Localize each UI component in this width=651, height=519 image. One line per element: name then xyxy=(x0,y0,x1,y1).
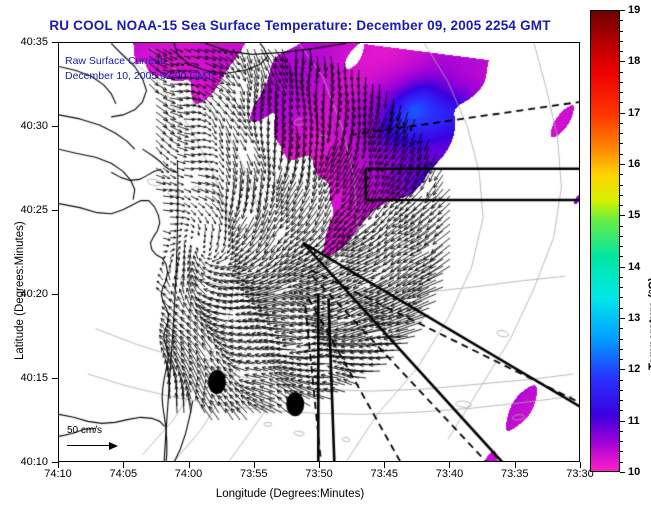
colorbar-tick xyxy=(620,10,625,11)
temperature-colorbar[interactable] xyxy=(590,10,620,472)
colorbar-minor-tick xyxy=(620,339,623,340)
y-axis-tick-label: 40:30 xyxy=(0,120,48,132)
colorbar-minor-tick xyxy=(620,143,623,144)
x-axis-tick-label: 74:00 xyxy=(175,468,203,480)
colorbar-minor-tick xyxy=(620,287,623,288)
colorbar-minor-tick xyxy=(620,133,623,134)
colorbar-tick-label: 11 xyxy=(628,415,640,427)
colorbar-minor-tick xyxy=(620,400,623,401)
y-axis-tick xyxy=(52,126,58,127)
colorbar-minor-tick xyxy=(620,174,623,175)
y-axis-tick-label: 40:10 xyxy=(0,456,48,468)
y-axis-tick-label: 40:25 xyxy=(0,204,48,216)
map-plot-area[interactable]: Raw Surface Current: December 10, 2005 0… xyxy=(58,42,580,462)
colorbar-minor-tick xyxy=(620,328,623,329)
y-axis-title: Latitude (Degrees:Minutes) xyxy=(14,221,26,360)
sst-current-map-canvas[interactable] xyxy=(59,43,580,462)
colorbar-minor-tick xyxy=(620,226,623,227)
velocity-scale-key: 50 cm/s xyxy=(67,425,123,452)
x-axis-tick-label: 73:50 xyxy=(305,468,333,480)
colorbar-minor-tick xyxy=(620,410,623,411)
x-axis-tick-label: 73:55 xyxy=(240,468,268,480)
colorbar-minor-tick xyxy=(620,185,623,186)
colorbar-minor-tick xyxy=(620,92,623,93)
colorbar-minor-tick xyxy=(620,205,623,206)
x-axis-tick-label: 74:10 xyxy=(44,468,72,480)
colorbar-minor-tick xyxy=(620,431,623,432)
colorbar-tick-label: 12 xyxy=(628,363,640,375)
colorbar-gradient xyxy=(591,11,619,471)
colorbar-tick xyxy=(620,267,625,268)
colorbar-minor-tick xyxy=(620,308,623,309)
colorbar-tick-label: 19 xyxy=(628,4,640,16)
colorbar-minor-tick xyxy=(620,51,623,52)
map-canvas-wrapper xyxy=(59,43,579,461)
x-axis-tick-label: 74:05 xyxy=(110,468,138,480)
page-title: RU COOL NOAA-15 Sea Surface Temperature:… xyxy=(0,18,600,33)
colorbar-tick-label: 16 xyxy=(628,158,640,170)
colorbar-tick xyxy=(620,164,625,165)
colorbar-minor-tick xyxy=(620,451,623,452)
subtitle-line-2: December 10, 2005 02:00 GMT xyxy=(65,70,213,82)
colorbar-minor-tick xyxy=(620,349,623,350)
colorbar-minor-tick xyxy=(620,390,623,391)
colorbar-minor-tick xyxy=(620,82,623,83)
y-axis-tick xyxy=(52,210,58,211)
colorbar-tick-label: 18 xyxy=(628,55,640,67)
colorbar-minor-tick xyxy=(620,277,623,278)
y-axis-tick xyxy=(52,294,58,295)
x-axis-tick-label: 73:35 xyxy=(501,468,529,480)
colorbar-minor-tick xyxy=(620,256,623,257)
colorbar-tick xyxy=(620,421,625,422)
colorbar-tick-label: 14 xyxy=(628,261,640,273)
colorbar-tick xyxy=(620,472,625,473)
colorbar-tick xyxy=(620,369,625,370)
colorbar-minor-tick xyxy=(620,236,623,237)
x-axis-tick-label: 73:45 xyxy=(370,468,398,480)
colorbar-minor-tick xyxy=(620,102,623,103)
colorbar-minor-tick xyxy=(620,154,623,155)
colorbar-minor-tick xyxy=(620,123,623,124)
colorbar-minor-tick xyxy=(620,246,623,247)
colorbar-tick xyxy=(620,61,625,62)
scale-key-label: 50 cm/s xyxy=(67,425,123,436)
colorbar-minor-tick xyxy=(620,41,623,42)
y-axis-tick xyxy=(52,42,58,43)
colorbar-minor-tick xyxy=(620,72,623,73)
colorbar-minor-tick xyxy=(620,462,623,463)
colorbar-minor-tick xyxy=(620,20,623,21)
y-axis-tick xyxy=(52,378,58,379)
colorbar-tick-label: 17 xyxy=(628,107,640,119)
colorbar-minor-tick xyxy=(620,31,623,32)
colorbar-minor-tick xyxy=(620,297,623,298)
colorbar-tick xyxy=(620,318,625,319)
scale-key-arrow-icon xyxy=(67,440,123,452)
colorbar-tick-label: 10 xyxy=(628,466,640,478)
colorbar-tick xyxy=(620,215,625,216)
subtitle-line-1: Raw Surface Current: xyxy=(65,55,166,67)
x-axis-title: Longitude (Degrees:Minutes) xyxy=(0,488,580,500)
colorbar-tick xyxy=(620,113,625,114)
colorbar-tick-label: 15 xyxy=(628,209,640,221)
colorbar-minor-tick xyxy=(620,195,623,196)
colorbar-tick-label: 13 xyxy=(628,312,640,324)
colorbar-minor-tick xyxy=(620,359,623,360)
y-axis-tick xyxy=(52,462,58,463)
figure-root: RU COOL NOAA-15 Sea Surface Temperature:… xyxy=(0,0,651,519)
colorbar-minor-tick xyxy=(620,380,623,381)
colorbar-minor-tick xyxy=(620,441,623,442)
y-axis-tick-label: 40:15 xyxy=(0,372,48,384)
y-axis-tick-label: 40:35 xyxy=(0,36,48,48)
x-axis-tick-label: 73:40 xyxy=(436,468,464,480)
